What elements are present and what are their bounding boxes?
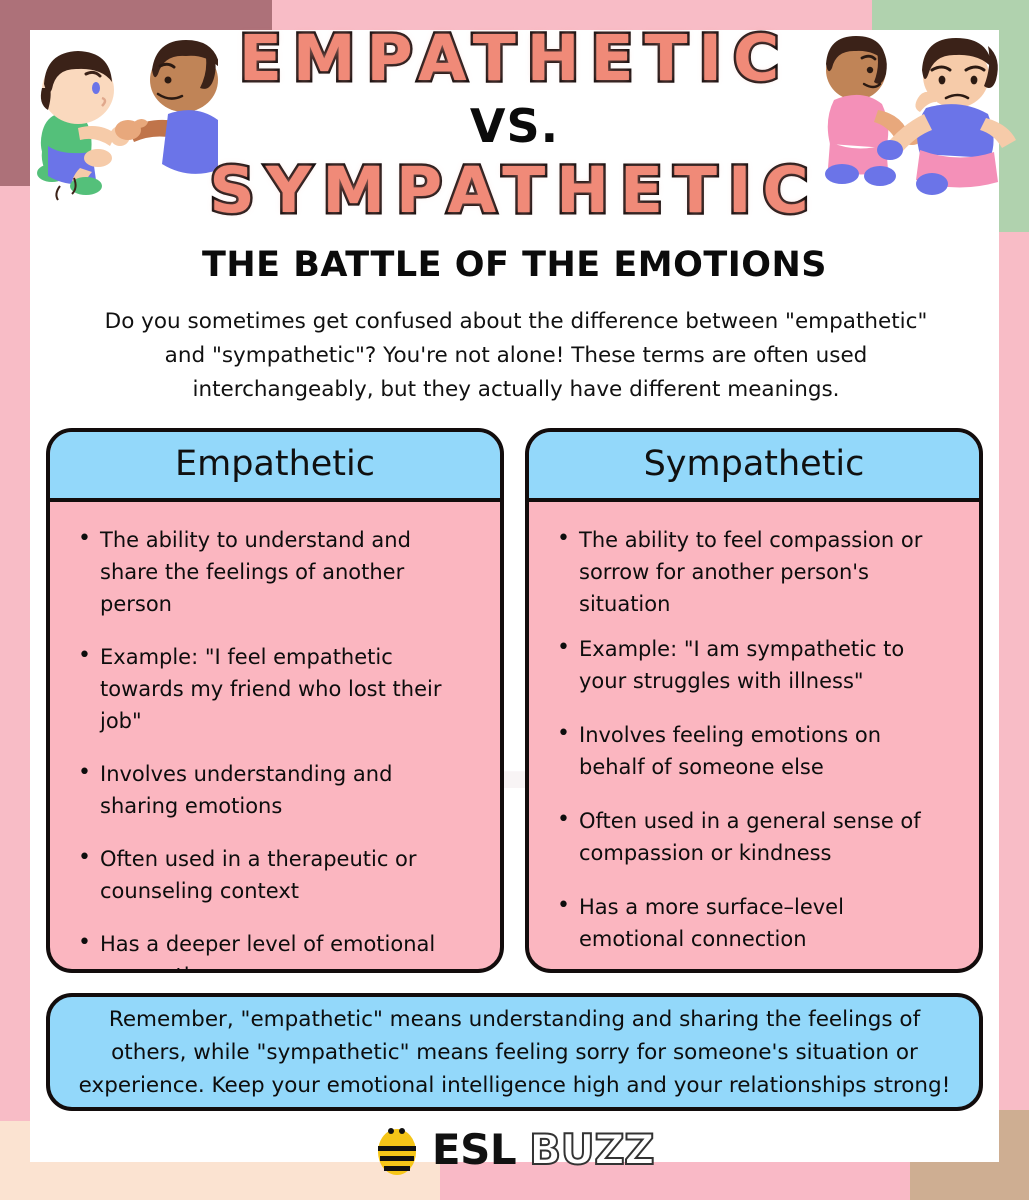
list-item: The ability to understand and share the … xyxy=(70,524,474,620)
card-sympathetic: Sympathetic The ability to feel compassi… xyxy=(525,428,983,973)
title-empathetic: EMPATHETIC xyxy=(0,24,1029,94)
logo-text-buzz: BUZZ xyxy=(529,1127,654,1173)
title-sympathetic: SYMPATHETIC xyxy=(0,156,1029,226)
bee-logo-icon xyxy=(375,1124,419,1176)
list-item: Example: "I am sympathetic to your strug… xyxy=(549,633,953,697)
card-empathetic: Empathetic The ability to understand and… xyxy=(46,428,504,973)
list-item: Often used in a general sense of compass… xyxy=(549,805,953,869)
border-block-left-pink xyxy=(0,186,30,1121)
list-item: Involves feeling emotions on behalf of s… xyxy=(549,719,953,783)
title-vs: VS. xyxy=(0,98,1029,154)
summary-callout: Remember, "empathetic" means understandi… xyxy=(46,993,983,1111)
list-item: Involves understanding and sharing emoti… xyxy=(70,758,474,822)
intro-paragraph: Do you sometimes get confused about the … xyxy=(92,305,940,407)
list-item: Often used in a therapeutic or counselin… xyxy=(70,843,474,907)
card-header-sympathetic: Sympathetic xyxy=(529,432,979,502)
list-item: The ability to feel compassion or sorrow… xyxy=(549,524,953,620)
logo-text-esl: ESL xyxy=(432,1127,516,1173)
list-item: Has a deeper level of emotional connecti… xyxy=(70,928,474,973)
card-body-sympathetic: The ability to feel compassion or sorrow… xyxy=(529,502,979,973)
list-item: Has a more surface–level emotional conne… xyxy=(549,891,953,955)
headline-block: EMPATHETIC VS. SYMPATHETIC THE BATTLE OF… xyxy=(0,24,1029,286)
card-body-empathetic: The ability to understand and share the … xyxy=(50,502,500,973)
page-subtitle: THE BATTLE OF THE EMOTIONS xyxy=(0,244,1029,286)
eslbuzz-logo: ESL BUZZ xyxy=(0,1124,1029,1176)
border-block-right-pink xyxy=(999,232,1029,1110)
comparison-cards: Empathetic The ability to understand and… xyxy=(46,428,983,973)
infographic-poster: EMPATHETIC VS. SYMPATHETIC THE BATTLE OF… xyxy=(0,0,1029,1200)
card-header-empathetic: Empathetic xyxy=(50,432,500,502)
list-item: Example: "I feel empathetic towards my f… xyxy=(70,641,474,737)
